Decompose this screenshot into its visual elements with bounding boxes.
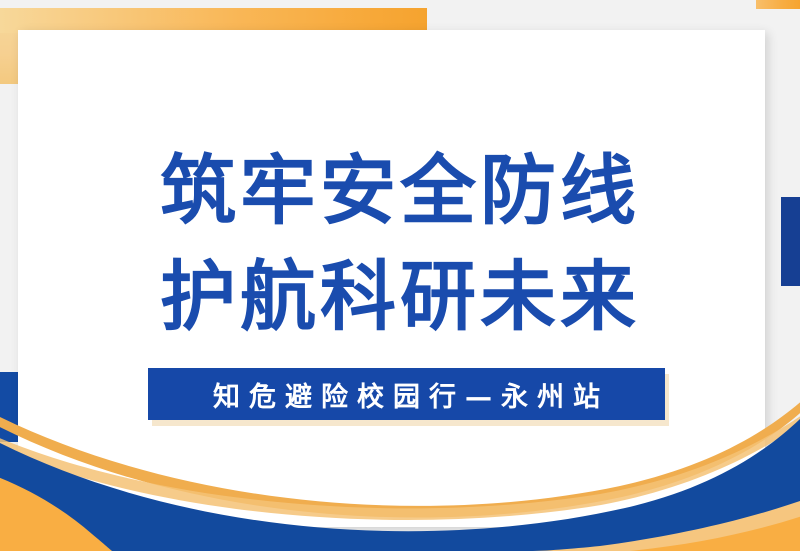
headline-line-2: 护航科研未来: [0, 244, 800, 350]
subtitle-banner-wrapper: 知危避险校园行—永州站: [148, 368, 665, 420]
subtitle-banner-text: 知危避险校园行—永州站: [204, 375, 609, 414]
subtitle-banner: 知危避险校园行—永州站: [148, 368, 665, 420]
poster-canvas: 筑牢安全防线 护航科研未来 知危避险校园行—永州站: [0, 0, 800, 551]
headline-block: 筑牢安全防线 护航科研未来: [0, 138, 800, 350]
headline-line-1: 筑牢安全防线: [0, 138, 800, 244]
orange-top-right-bar-decoration: [756, 0, 800, 9]
